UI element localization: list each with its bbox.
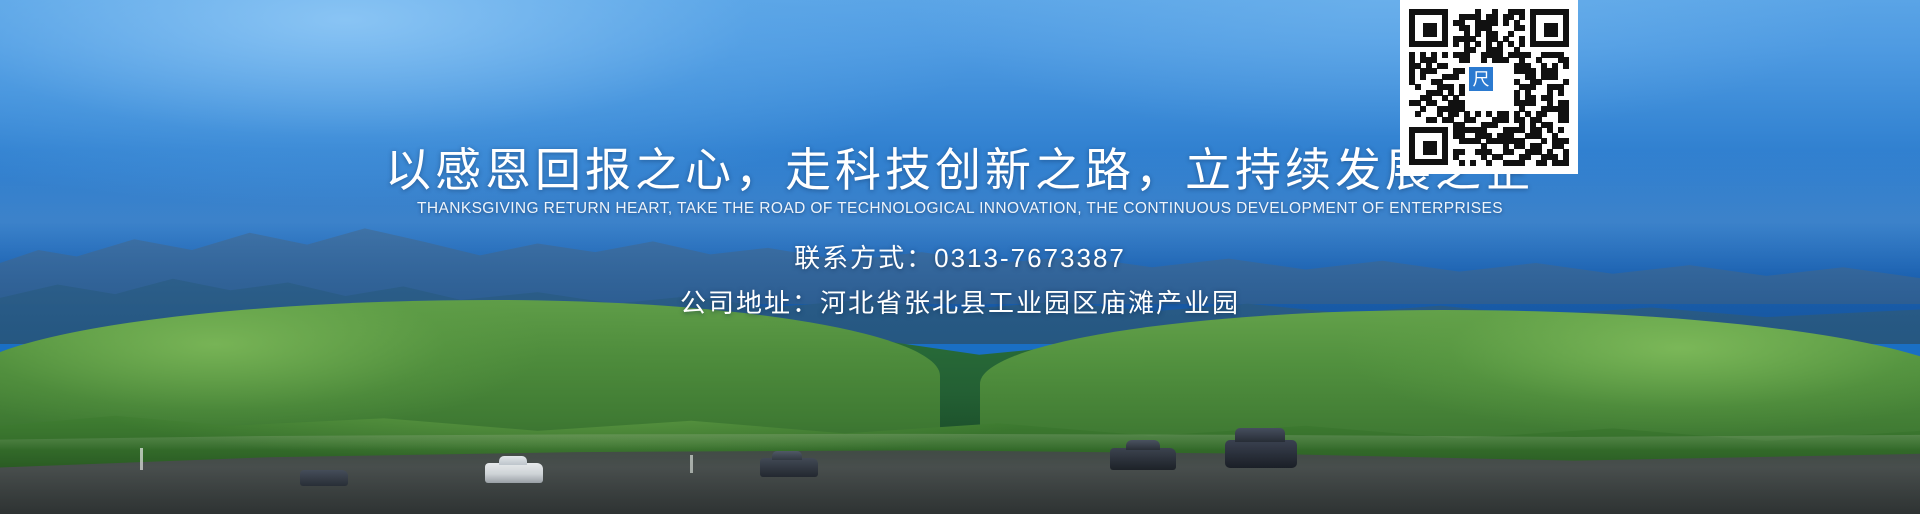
promo-banner: 以感恩回报之心，走科技创新之路，立持续发展之企 THANKSGIVING RET…: [0, 0, 1920, 514]
contact-phone: 联系方式：0313-7673387: [0, 238, 1920, 275]
qr-finder-pattern: [1530, 9, 1569, 47]
banner-content: 以感恩回报之心，走科技创新之路，立持续发展之企 THANKSGIVING RET…: [0, 0, 1920, 514]
qr-logo-glyph: 尺: [1473, 71, 1490, 88]
qr-code[interactable]: 尺: [1400, 0, 1578, 174]
banner-headline: 以感恩回报之心，走科技创新之路，立持续发展之企: [0, 143, 1920, 197]
banner-subheadline: THANKSGIVING RETURN HEART, TAKE THE ROAD…: [0, 200, 1920, 218]
qr-finder-pattern: [1409, 9, 1448, 47]
contact-address: 公司地址：河北省张北县工业园区庙滩产业园: [0, 283, 1920, 320]
qr-finder-pattern: [1409, 127, 1448, 165]
qr-code-logo: 尺: [1466, 64, 1496, 94]
qr-code-canvas: 尺: [1409, 9, 1569, 165]
